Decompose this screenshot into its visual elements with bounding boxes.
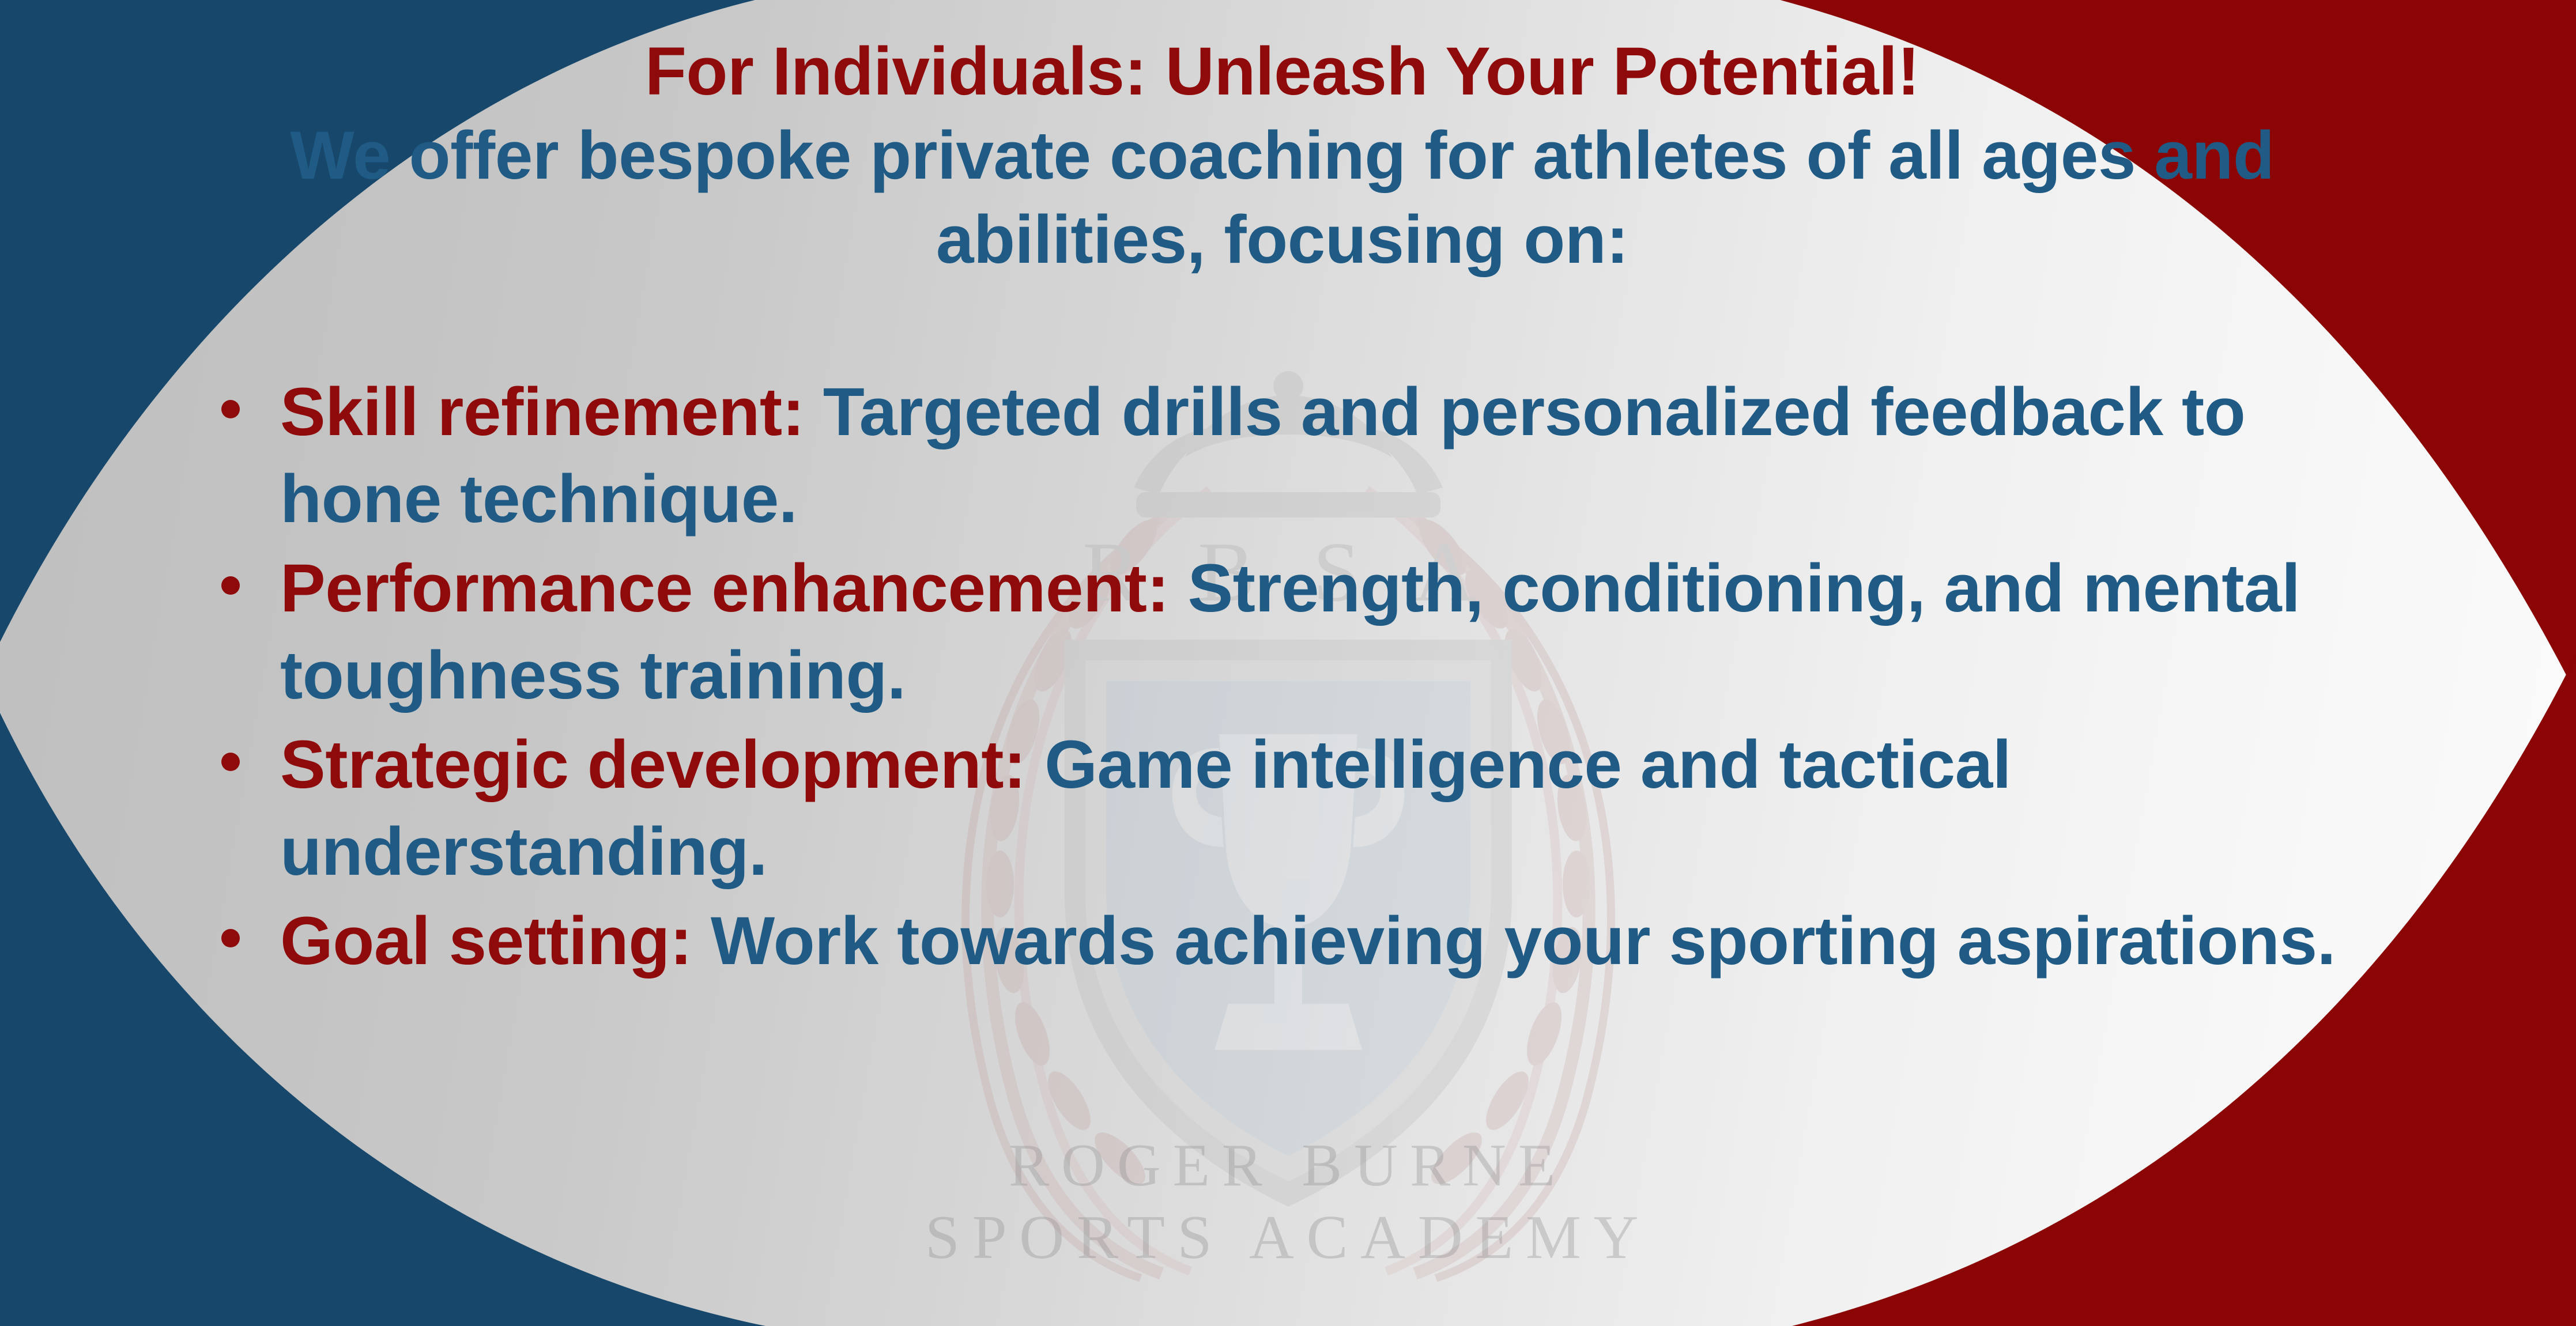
bullet-body-text: Work towards achieving your sporting asp… [692,903,2336,979]
bullet-lead-label: Goal setting: [280,903,692,979]
bullet-lead-label: Strategic development: [280,727,1026,803]
slide-content: For Individuals: Unleash Your Potential!… [0,0,2576,1326]
bullet-dot-icon [221,753,240,771]
slide-headline: For Individuals: Unleash Your Potential! [110,36,2455,108]
bullet-lead-label: Skill refinement: [280,374,805,450]
slide-subtitle: We offer bespoke private coaching for at… [153,114,2412,282]
subtitle-line-2: abilities, focusing on: [153,198,2412,282]
bullet-lead-label: Performance enhancement: [280,550,1169,626]
subtitle-line-1: We offer bespoke private coaching for at… [153,114,2412,198]
bullet-dot-icon [221,576,240,595]
list-item: Strategic development: Game intelligence… [213,721,2381,896]
slide-canvas: R B S A ROGER BURNE SPORTS ACADEMY For I… [0,0,2576,1326]
benefits-list: Skill refinement: Targeted drills and pe… [110,369,2455,985]
bullet-dot-icon [221,929,240,947]
list-item: Performance enhancement: Strength, condi… [213,545,2381,719]
list-item: Goal setting: Work towards achieving you… [213,898,2381,985]
bullet-dot-icon [221,400,240,418]
list-item: Skill refinement: Targeted drills and pe… [213,369,2381,543]
